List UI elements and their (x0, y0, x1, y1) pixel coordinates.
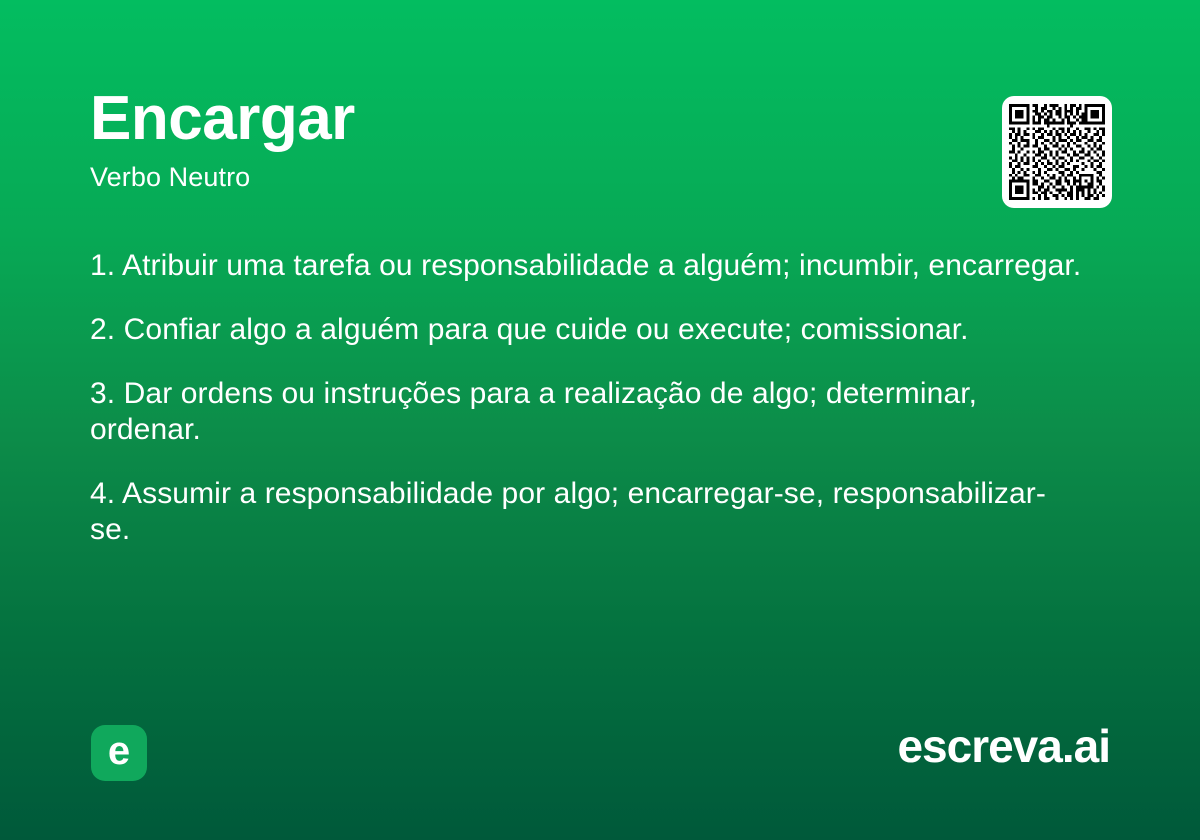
list-item: 4. Assumir a responsabilidade por algo; … (90, 476, 1085, 548)
list-item: 3. Dar ordens ou instruções para a reali… (90, 376, 1085, 448)
qr-code-icon (1009, 104, 1105, 200)
word-class-label: Verbo Neutro (90, 164, 970, 191)
brand-wordmark: escreva.ai (897, 723, 1110, 769)
logo-letter: e (108, 731, 130, 771)
card-header: Encargar Verbo Neutro (90, 88, 970, 191)
list-item: 1. Atribuir uma tarefa ou responsabilida… (90, 248, 1085, 284)
escreva-logo-icon: e (91, 725, 147, 781)
dictionary-card: Encargar Verbo Neutro (0, 0, 1200, 840)
qr-code-panel[interactable] (1002, 96, 1112, 208)
page-title: Encargar (90, 88, 970, 150)
definition-list: 1. Atribuir uma tarefa ou responsabilida… (90, 248, 1085, 548)
list-item: 2. Confiar algo a alguém para que cuide … (90, 312, 1085, 348)
